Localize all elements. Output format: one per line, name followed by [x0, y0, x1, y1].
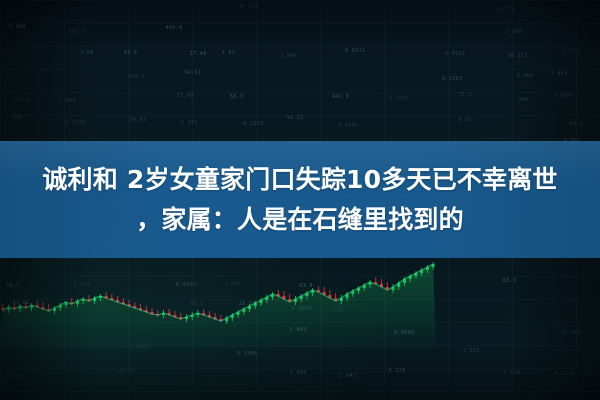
headline-line-2: ，家属：人是在石缝里找到的: [136, 203, 464, 237]
screenshot-canvas: 36 21513 7700.004480.2442.01 3867.8049.8…: [0, 0, 600, 400]
headline-line-1: 诚利和 2岁女童家门口失踪10多天已不幸离世: [42, 163, 557, 197]
candlestick-chart: [0, 248, 436, 348]
headline-text-block: 诚利和 2岁女童家门口失踪10多天已不幸离世 ，家属：人是在石缝里找到的: [0, 141, 600, 258]
